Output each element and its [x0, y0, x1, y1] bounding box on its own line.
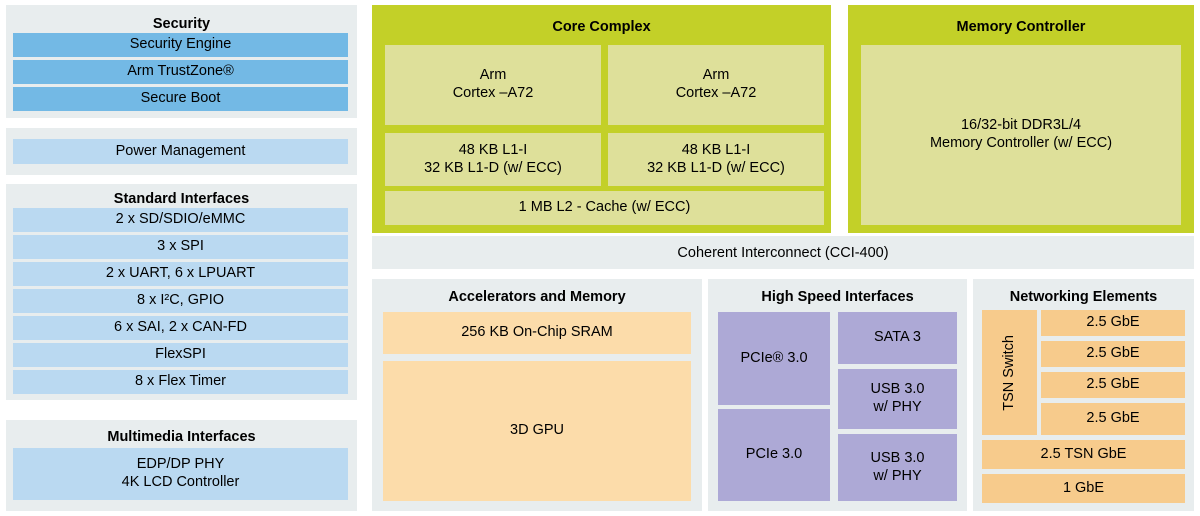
- block-label-line1: Arm: [703, 67, 730, 85]
- block-i2c-gpio[interactable]: 8 x I²C, GPIO: [13, 289, 348, 313]
- block-2-5-gbe-1[interactable]: 2.5 GbE: [1041, 310, 1185, 336]
- block-label-line2: 32 KB L1-D (w/ ECC): [647, 160, 785, 178]
- block-sd-sdio-emmc[interactable]: 2 x SD/SDIO/eMMC: [13, 208, 348, 232]
- block-label: Arm TrustZone®: [127, 63, 234, 81]
- block-label: 6 x SAI, 2 x CAN-FD: [114, 319, 247, 337]
- block-label-line2: 4K LCD Controller: [122, 474, 240, 492]
- block-label: 2.5 GbE: [1086, 345, 1139, 363]
- panel-standard-interfaces-title: Standard Interfaces: [6, 192, 357, 207]
- block-spi[interactable]: 3 x SPI: [13, 235, 348, 259]
- block-label: 1 MB L2 - Cache (w/ ECC): [519, 199, 691, 217]
- panel-standard-interfaces: Standard Interfaces 2 x SD/SDIO/eMMC 3 x…: [6, 184, 357, 400]
- block-label: TSN Switch: [1001, 335, 1019, 411]
- block-2-5-gbe-4[interactable]: 2.5 GbE: [1041, 403, 1185, 435]
- block-label: 1 GbE: [1063, 480, 1104, 498]
- panel-networking-elements-title: Networking Elements: [973, 290, 1194, 305]
- block-label: 2 x SD/SDIO/eMMC: [116, 211, 246, 229]
- block-1-gbe[interactable]: 1 GbE: [982, 474, 1185, 503]
- block-2-5-gbe-3[interactable]: 2.5 GbE: [1041, 372, 1185, 398]
- block-label-line1: 48 KB L1-I: [459, 142, 528, 160]
- block-label-line2: Cortex –A72: [676, 85, 757, 103]
- panel-power-management: Power Management: [6, 128, 357, 175]
- block-label-line1: 48 KB L1-I: [682, 142, 751, 160]
- soc-block-diagram: Security Security Engine Arm TrustZone® …: [0, 0, 1200, 516]
- panel-multimedia-interfaces-title: Multimedia Interfaces: [6, 430, 357, 445]
- block-sai-canfd[interactable]: 6 x SAI, 2 x CAN-FD: [13, 316, 348, 340]
- block-label: 8 x Flex Timer: [135, 373, 226, 391]
- block-l2-cache[interactable]: 1 MB L2 - Cache (w/ ECC): [385, 191, 824, 225]
- block-label-line2: w/ PHY: [873, 468, 921, 486]
- panel-memory-controller: Memory Controller 16/32-bit DDR3L/4 Memo…: [848, 5, 1194, 233]
- block-label: 2.5 TSN GbE: [1041, 446, 1127, 464]
- panel-memory-controller-title: Memory Controller: [848, 20, 1194, 35]
- block-security-engine[interactable]: Security Engine: [13, 33, 348, 57]
- block-label: PCIe® 3.0: [740, 350, 807, 368]
- block-arm-trustzone[interactable]: Arm TrustZone®: [13, 60, 348, 84]
- block-label: 2 x UART, 6 x LPUART: [106, 265, 255, 283]
- block-label-line2: w/ PHY: [873, 399, 921, 417]
- panel-networking-elements: Networking Elements TSN Switch 2.5 GbE 2…: [973, 279, 1194, 511]
- block-usb-3-0-phy-b[interactable]: USB 3.0 w/ PHY: [838, 434, 957, 501]
- block-label-line2: Cortex –A72: [453, 85, 534, 103]
- block-2-5-tsn-gbe[interactable]: 2.5 TSN GbE: [982, 440, 1185, 469]
- block-sata-3[interactable]: SATA 3: [838, 312, 957, 364]
- block-uart-lpuart[interactable]: 2 x UART, 6 x LPUART: [13, 262, 348, 286]
- block-3d-gpu[interactable]: 3D GPU: [383, 361, 691, 501]
- block-label-line1: Arm: [480, 67, 507, 85]
- block-label: 3 x SPI: [157, 238, 204, 256]
- block-flexspi[interactable]: FlexSPI: [13, 343, 348, 367]
- block-pcie-3-0-a[interactable]: PCIe® 3.0: [718, 312, 830, 405]
- block-label: SATA 3: [874, 329, 921, 347]
- block-label-line2: Memory Controller (w/ ECC): [930, 135, 1112, 153]
- panel-multimedia-interfaces: Multimedia Interfaces EDP/DP PHY 4K LCD …: [6, 420, 357, 511]
- block-on-chip-sram[interactable]: 256 KB On-Chip SRAM: [383, 312, 691, 354]
- block-label: 2.5 GbE: [1086, 314, 1139, 332]
- block-label-line1: USB 3.0: [871, 450, 925, 468]
- block-label: 8 x I²C, GPIO: [137, 292, 224, 310]
- panel-security-title: Security: [6, 17, 357, 32]
- panel-core-complex: Core Complex Arm Cortex –A72 Arm Cortex …: [372, 5, 831, 233]
- panel-high-speed-interfaces-title: High Speed Interfaces: [708, 290, 967, 305]
- block-label: 2.5 GbE: [1086, 376, 1139, 394]
- block-arm-cortex-a72-0[interactable]: Arm Cortex –A72: [385, 45, 601, 125]
- panel-accelerators-and-memory: Accelerators and Memory 256 KB On-Chip S…: [372, 279, 702, 511]
- block-label: PCIe 3.0: [746, 446, 802, 464]
- block-label: Security Engine: [130, 36, 232, 54]
- panel-accelerators-and-memory-title: Accelerators and Memory: [372, 290, 702, 305]
- block-l1-cache-1[interactable]: 48 KB L1-I 32 KB L1-D (w/ ECC): [608, 133, 824, 186]
- block-secure-boot[interactable]: Secure Boot: [13, 87, 348, 111]
- block-l1-cache-0[interactable]: 48 KB L1-I 32 KB L1-D (w/ ECC): [385, 133, 601, 186]
- block-2-5-gbe-2[interactable]: 2.5 GbE: [1041, 341, 1185, 367]
- interconnect-label: Coherent Interconnect (CCI-400): [677, 245, 888, 261]
- block-label-line1: 16/32-bit DDR3L/4: [961, 117, 1081, 135]
- block-pcie-3-0-b[interactable]: PCIe 3.0: [718, 409, 830, 501]
- block-label: 256 KB On-Chip SRAM: [461, 324, 613, 342]
- panel-high-speed-interfaces: High Speed Interfaces PCIe® 3.0 PCIe 3.0…: [708, 279, 967, 511]
- block-flex-timer[interactable]: 8 x Flex Timer: [13, 370, 348, 394]
- panel-coherent-interconnect[interactable]: Coherent Interconnect (CCI-400): [372, 236, 1194, 269]
- block-tsn-switch[interactable]: TSN Switch: [982, 310, 1037, 435]
- block-usb-3-0-phy-a[interactable]: USB 3.0 w/ PHY: [838, 369, 957, 429]
- block-label: 3D GPU: [510, 422, 564, 440]
- block-ddr-memory-controller[interactable]: 16/32-bit DDR3L/4 Memory Controller (w/ …: [861, 45, 1181, 225]
- block-edp-dp-phy-lcd[interactable]: EDP/DP PHY 4K LCD Controller: [13, 448, 348, 500]
- panel-security: Security Security Engine Arm TrustZone® …: [6, 5, 357, 118]
- block-label-line1: USB 3.0: [871, 381, 925, 399]
- panel-core-complex-title: Core Complex: [372, 20, 831, 35]
- block-arm-cortex-a72-1[interactable]: Arm Cortex –A72: [608, 45, 824, 125]
- block-label: Power Management: [116, 143, 246, 161]
- block-label: 2.5 GbE: [1086, 410, 1139, 428]
- block-label-line2: 32 KB L1-D (w/ ECC): [424, 160, 562, 178]
- block-label-line1: EDP/DP PHY: [137, 456, 225, 474]
- block-label: Secure Boot: [141, 90, 221, 108]
- block-label: FlexSPI: [155, 346, 206, 364]
- block-power-management[interactable]: Power Management: [13, 139, 348, 164]
